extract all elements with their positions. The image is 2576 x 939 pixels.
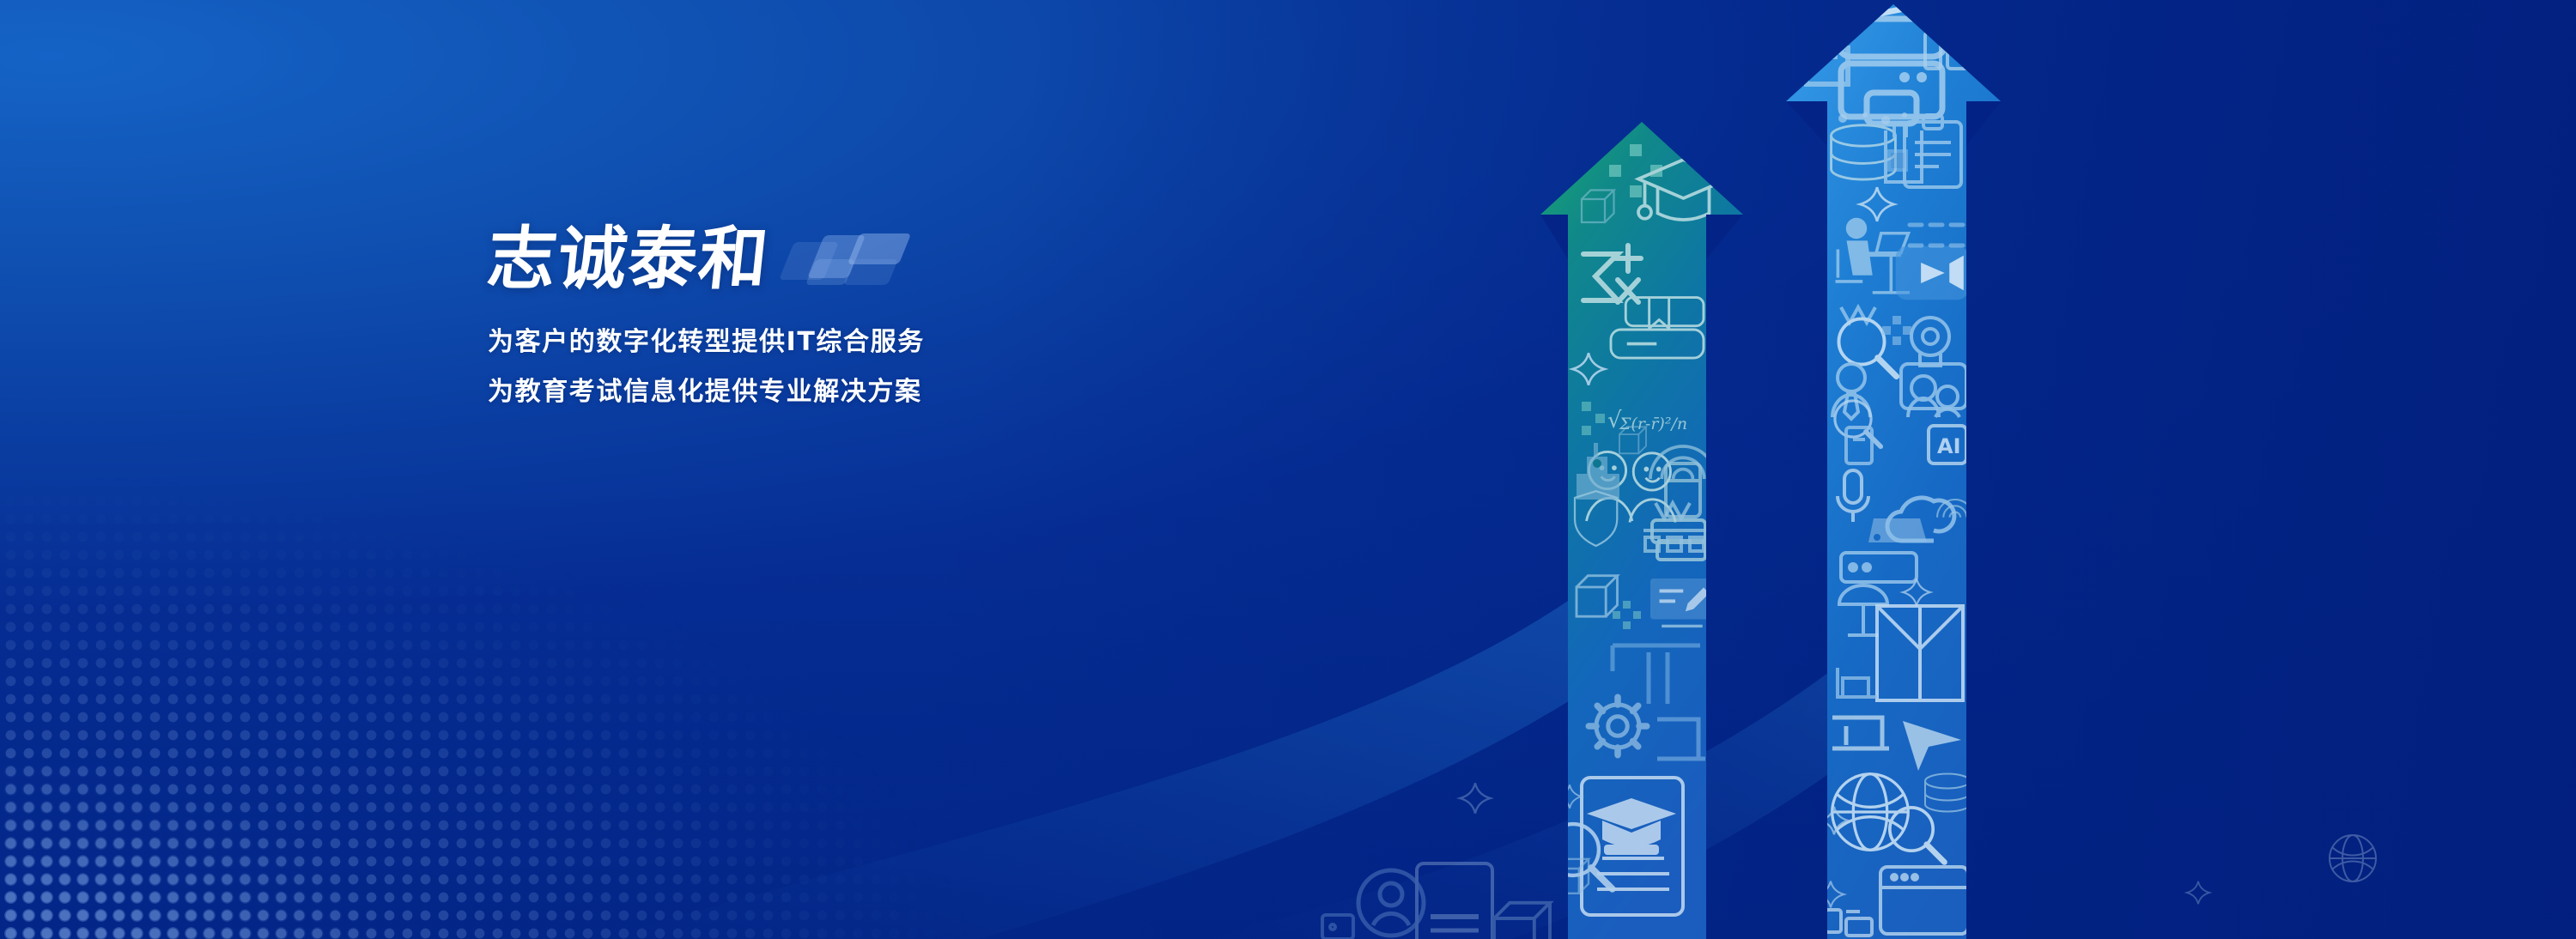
logo-row: 志诚泰和: [488, 199, 1432, 294]
company-logo-text: 志诚泰和: [484, 225, 773, 294]
tagline-line-2: 为教育考试信息化提供专业解决方案: [488, 379, 1432, 405]
brand-mark-shape-5: [843, 259, 898, 285]
hero-banner: √ Σ(r-r̄)²/n: [0, 0, 2576, 939]
tagline-group: 为客户的数字化转型提供IT综合服务 为教育考试信息化提供专业解决方案: [488, 330, 1432, 405]
hero-text-block: 志诚泰和 为客户的数字化转型提供IT综合服务 为教育考试信息化提供专业解决方案: [488, 199, 1432, 405]
tagline-line-1: 为客户的数字化转型提供IT综合服务: [488, 330, 1432, 355]
parallelogram-brand-mark-icon: [785, 230, 929, 287]
